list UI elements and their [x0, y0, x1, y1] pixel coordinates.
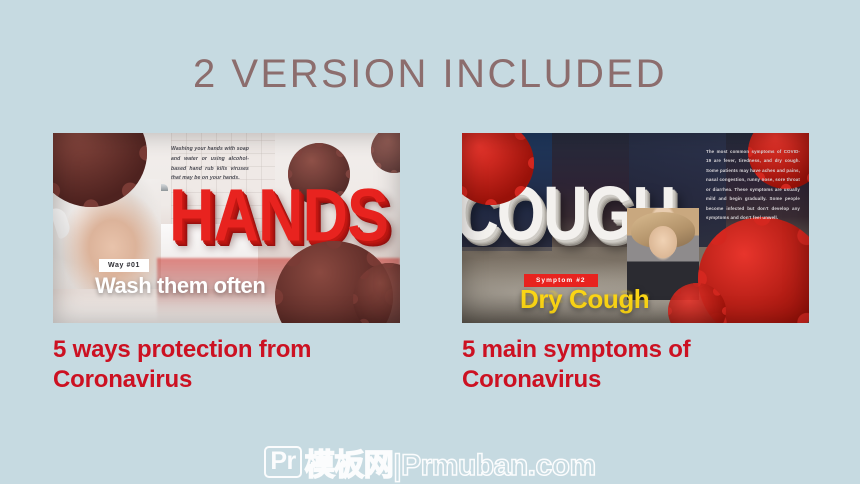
watermark-text: 模板网|Prmuban.com: [305, 440, 596, 484]
card-hands[interactable]: Washing your hands with soap and water o…: [53, 133, 400, 323]
thumbnail-cough[interactable]: COUGH The most common symptoms of COVID-…: [462, 133, 809, 323]
hands-subtitle: Wash them often: [95, 273, 265, 299]
sleeve: [53, 206, 72, 240]
caption-cough: 5 main symptoms of Coronavirus: [462, 335, 822, 394]
caption-hands: 5 ways protection from Coronavirus: [53, 335, 413, 394]
card-cough[interactable]: COUGH The most common symptoms of COVID-…: [462, 133, 809, 323]
cough-subtitle: Dry Cough: [520, 284, 649, 315]
way-badge: Way #01: [99, 259, 149, 272]
thumbnail-hands[interactable]: Washing your hands with soap and water o…: [53, 133, 400, 323]
watermark: Pr模板网|Prmuban.com: [0, 440, 860, 484]
cough-paragraph: The most common symptoms of COVID-19 are…: [706, 147, 800, 223]
page-title: 2 VERSION INCLUDED: [0, 52, 860, 97]
premiere-pro-logo-icon: Pr: [264, 446, 301, 477]
